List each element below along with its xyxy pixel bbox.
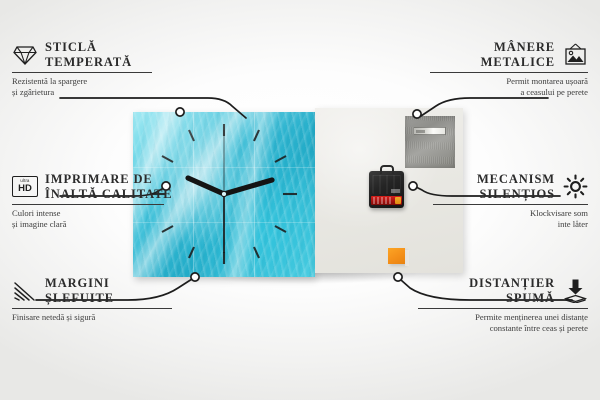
infographic-stage: STICLĂ TEMPERATĂ Rezistentă la spargere …	[0, 0, 600, 400]
feature-polished-edges: MARGINI ȘLEFUITE Finisare netedă și sigu…	[12, 276, 208, 323]
feature-divider	[12, 204, 164, 205]
feature-header: DISTANȚIER SPUMĂ	[392, 276, 588, 305]
battery-label	[373, 197, 392, 204]
feature-silent-movement: MECANISM SILENȚIOS	[392, 172, 588, 229]
feature-subtitle: Rezistentă la spargere și zgârietura	[12, 76, 208, 97]
gear-icon	[562, 174, 588, 200]
hd-badge: ultra HD	[12, 176, 38, 197]
picture-hanger-icon	[562, 42, 588, 68]
hd-badge-hd-label: HD	[18, 184, 32, 194]
feature-divider	[418, 308, 588, 309]
feature-subtitle: Permit montarea ușoară a ceasului pe per…	[392, 76, 588, 97]
feature-header: MARGINI ȘLEFUITE	[12, 276, 208, 305]
feature-subtitle: Finisare netedă și sigură	[12, 312, 208, 323]
feature-subtitle: Permite menținerea unei distanțe constan…	[392, 312, 588, 333]
feature-tempered-glass: STICLĂ TEMPERATĂ Rezistentă la spargere …	[12, 40, 208, 97]
hour-hand	[224, 180, 272, 194]
feature-title: IMPRIMARE DE ÎNALTĂ CALITATE	[45, 172, 173, 201]
feature-title: MECANISM SILENȚIOS	[477, 172, 555, 201]
feature-header: MECANISM SILENȚIOS	[392, 172, 588, 201]
feature-divider	[12, 308, 172, 309]
feature-title: DISTANȚIER SPUMĂ	[469, 276, 555, 305]
dial-center-cap	[221, 191, 226, 196]
feature-high-quality-print: ultra HD IMPRIMARE DE ÎNALTĂ CALITATE Cu…	[12, 172, 208, 229]
feature-foam-spacer: DISTANȚIER SPUMĂ Permite menținerea unei…	[392, 276, 588, 333]
feature-divider	[430, 72, 588, 73]
feature-metal-handles: MÂNERE METALICE Permit montarea ușoară a…	[392, 40, 588, 97]
diamond-icon	[12, 42, 38, 68]
hanger-strip	[413, 127, 446, 135]
metal-hanger-plate	[405, 116, 455, 168]
foam-spacer-pad	[388, 248, 405, 264]
foam-spacer-edge	[405, 250, 409, 266]
feature-divider	[12, 72, 152, 73]
ultra-hd-icon: ultra HD	[12, 174, 38, 200]
feature-subtitle: Culori intense și imagine clară	[12, 208, 208, 229]
feature-title: STICLĂ TEMPERATĂ	[45, 40, 132, 69]
brushed-metal-texture	[405, 116, 455, 168]
feature-title: MÂNERE METALICE	[481, 40, 555, 69]
polished-edge-icon	[12, 278, 38, 304]
feature-divider	[433, 204, 588, 205]
feature-subtitle: Klockvisare som inte låter	[392, 208, 588, 229]
feature-header: STICLĂ TEMPERATĂ	[12, 40, 208, 69]
feature-header: MÂNERE METALICE	[392, 40, 588, 69]
feature-header: ultra HD IMPRIMARE DE ÎNALTĂ CALITATE	[12, 172, 208, 201]
foam-spacer-icon	[562, 278, 588, 304]
feature-title: MARGINI ȘLEFUITE	[45, 276, 114, 305]
